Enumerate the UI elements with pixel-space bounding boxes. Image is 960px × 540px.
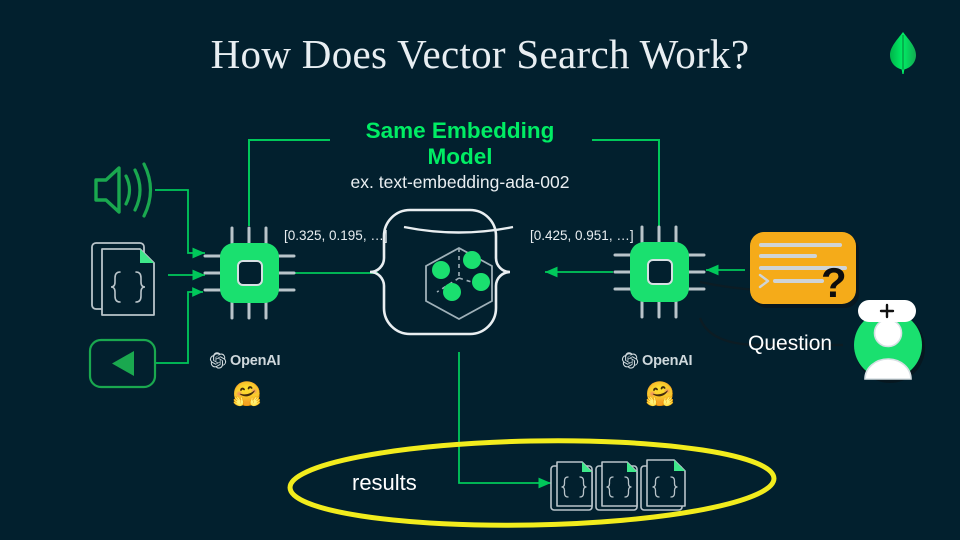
user-avatar-icon[interactable] [854, 300, 925, 383]
openai-logo-right: OpenAI [620, 351, 692, 370]
openai-logo-left: OpenAI [208, 351, 280, 370]
diagram-artwork: ? [0, 0, 960, 540]
question-label: Question [748, 332, 832, 356]
hugging-face-icon-right: 🤗 [645, 383, 675, 407]
results-label: results [352, 470, 417, 496]
document-stack-icon[interactable] [92, 243, 154, 315]
openai-name-right: OpenAI [642, 353, 692, 369]
question-card-icon[interactable]: ? [750, 232, 859, 308]
hugging-face-icon-left: 🤗 [232, 383, 262, 407]
result-documents-icon[interactable] [551, 460, 685, 510]
vector-label-right: [0.425, 0.951, …] [530, 228, 634, 243]
slide-canvas: How Does Vector Search Work? Same Embedd… [0, 0, 960, 540]
video-play-icon[interactable] [90, 340, 155, 387]
openai-mark-icon [208, 351, 227, 370]
question-mark-glyph: ? [821, 259, 847, 306]
openai-name-left: OpenAI [230, 353, 280, 369]
vector-label-left: [0.325, 0.195, …] [284, 228, 388, 243]
openai-mark-icon [620, 351, 639, 370]
vector-database-icon[interactable] [370, 210, 513, 334]
chip-icon-left[interactable] [205, 228, 294, 318]
speaker-icon[interactable] [96, 164, 151, 216]
